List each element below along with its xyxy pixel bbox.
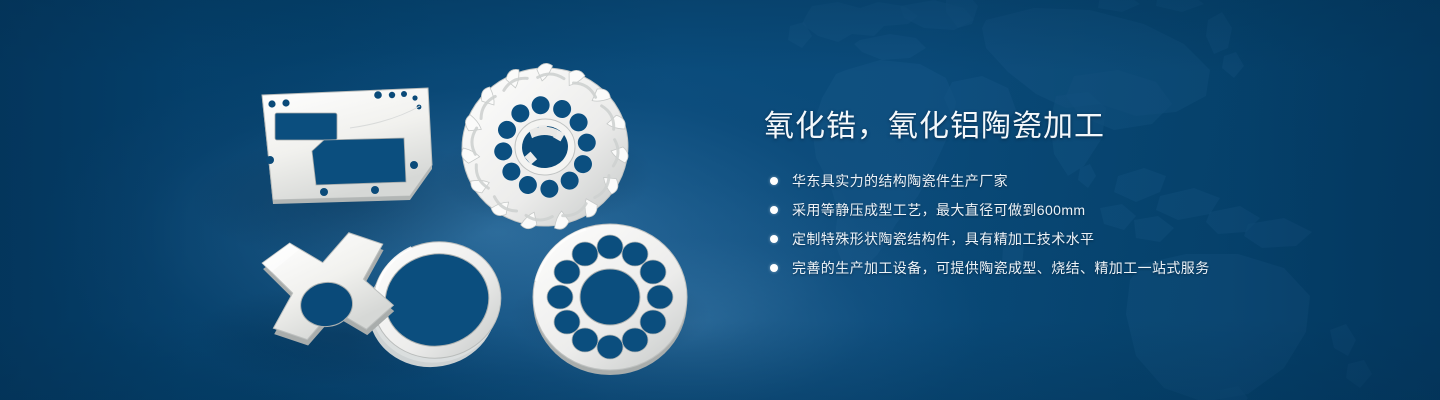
list-item: 采用等静压成型工艺，最大直径可做到600mm [770, 199, 1384, 221]
list-item-label: 采用等静压成型工艺，最大直径可做到600mm [792, 202, 1085, 218]
bullet-dot-icon [770, 264, 778, 272]
bullet-dot-icon [770, 206, 778, 214]
list-item: 定制特殊形状陶瓷结构件，具有精加工技术水平 [770, 228, 1384, 250]
ceramic-product-banner: 氧化锆，氧化铝陶瓷加工 华东具实力的结构陶瓷件生产厂家 采用等静压成型工艺，最大… [0, 0, 1440, 400]
page-title: 氧化锆，氧化铝陶瓷加工 [764, 106, 1384, 148]
list-item: 完善的生产加工设备，可提供陶瓷成型、烧结、精加工一站式服务 [770, 257, 1384, 279]
bullet-dot-icon [770, 177, 778, 185]
list-item-label: 完善的生产加工设备，可提供陶瓷成型、烧结、精加工一站式服务 [792, 260, 1210, 276]
list-item-label: 华东具实力的结构陶瓷件生产厂家 [792, 173, 1008, 189]
list-item-label: 定制特殊形状陶瓷结构件，具有精加工技术水平 [792, 231, 1094, 247]
banner-copy: 氧化锆，氧化铝陶瓷加工 华东具实力的结构陶瓷件生产厂家 采用等静压成型工艺，最大… [764, 106, 1384, 286]
feature-list: 华东具实力的结构陶瓷件生产厂家 采用等静压成型工艺，最大直径可做到600mm 定… [770, 170, 1384, 279]
list-item: 华东具实力的结构陶瓷件生产厂家 [770, 170, 1384, 192]
bullet-dot-icon [770, 235, 778, 243]
